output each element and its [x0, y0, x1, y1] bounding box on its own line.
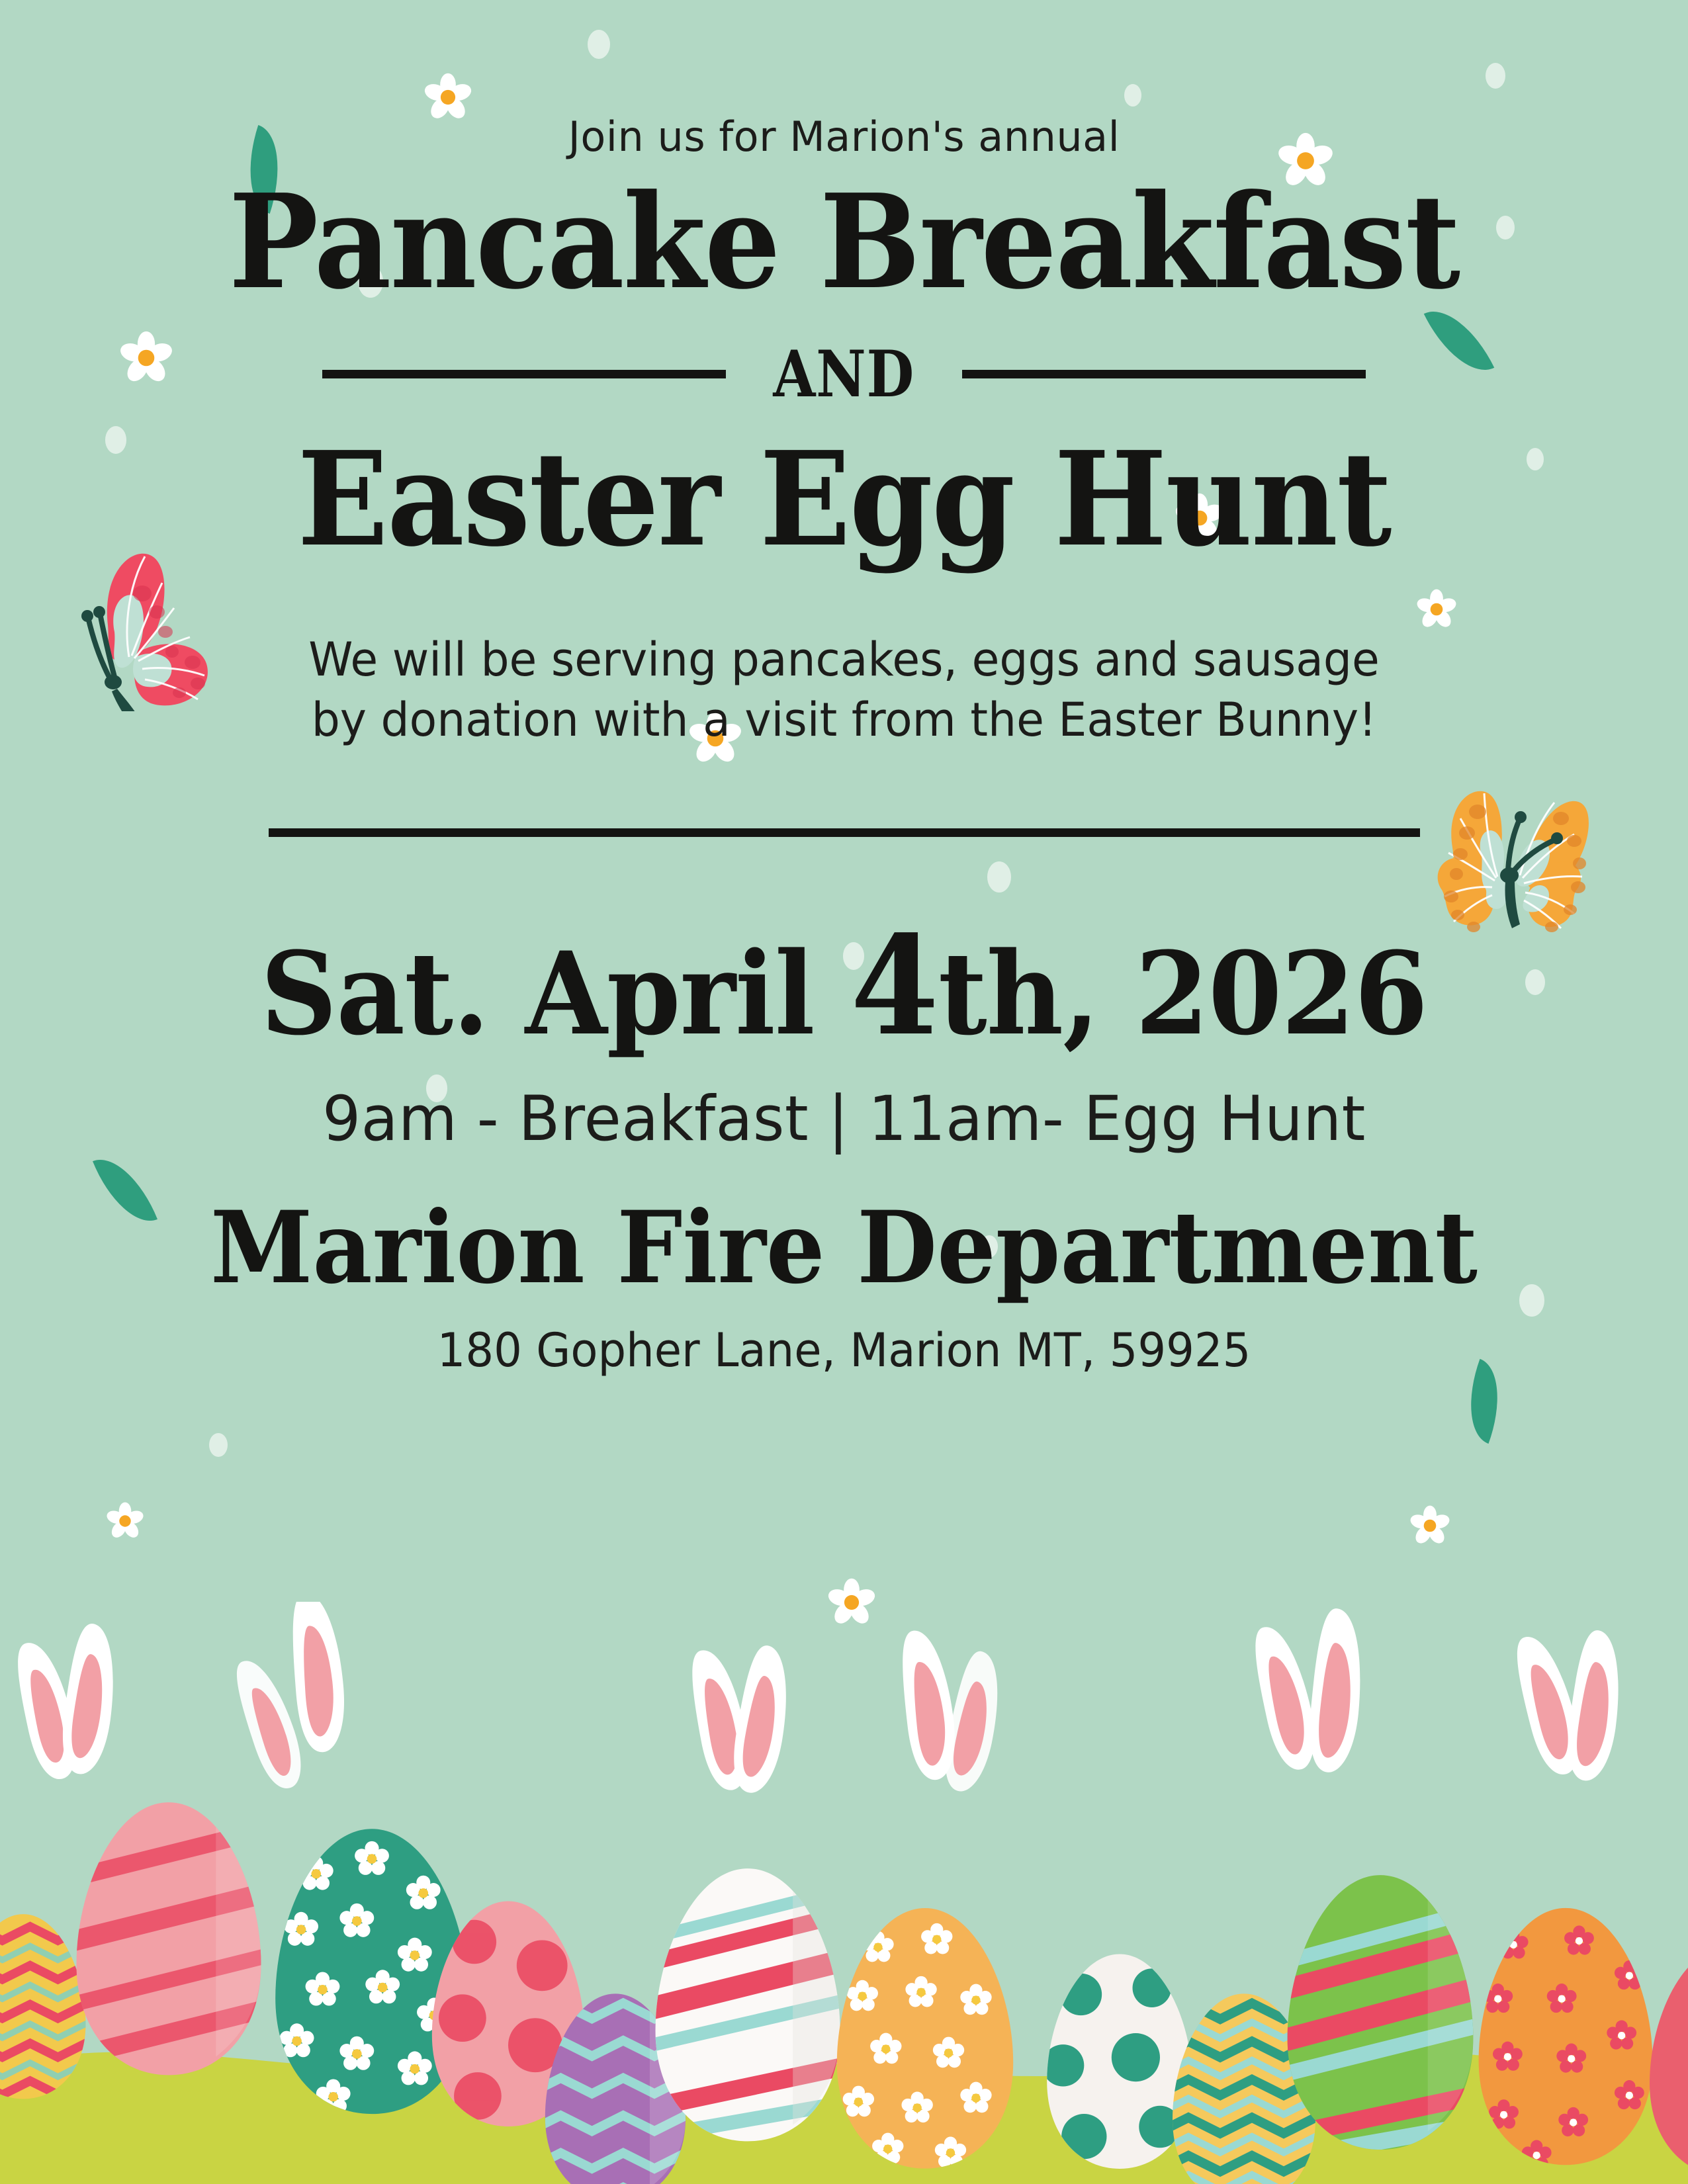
date-prefix: Sat. April	[261, 926, 851, 1061]
body-copy-line-1: We will be serving pancakes, eggs and sa…	[25, 630, 1662, 690]
body-copy: We will be serving pancakes, eggs and sa…	[25, 630, 1662, 750]
and-label: AND	[774, 337, 915, 412]
event-times: 9am - Breakfast | 11am- Egg Hunt	[25, 1083, 1662, 1155]
flower-icon	[1409, 1505, 1450, 1546]
easter-flyer: Join us for Marion's annual Pancake Brea…	[0, 0, 1688, 2184]
divider-rule-left	[322, 370, 726, 378]
butterfly-orange-icon	[1419, 777, 1598, 943]
body-copy-line-2: by donation with a visit from the Easter…	[25, 690, 1662, 750]
easter-egg-border	[0, 1602, 1688, 2184]
venue-name: Marion Fire Department	[59, 1190, 1628, 1306]
divider-rule-right	[962, 370, 1366, 378]
headline-easter-egg-hunt: Easter Egg Hunt	[67, 434, 1621, 566]
bunny-ears-group	[8, 1602, 1626, 1796]
event-date: Sat. April 4th, 2026	[59, 906, 1628, 1066]
butterfly-pink-icon	[63, 539, 242, 711]
date-day: 4	[850, 906, 938, 1066]
flower-icon	[106, 1502, 144, 1540]
confetti-dot	[209, 1433, 228, 1457]
date-suffix: th, 2026	[938, 926, 1427, 1061]
venue-address: 180 Gopher Lane, Marion MT, 59925	[34, 1323, 1654, 1377]
kicker-text: Join us for Marion's annual	[0, 112, 1688, 161]
flyer-content: Join us for Marion's annual Pancake Brea…	[0, 0, 1688, 1377]
headline-pancake-breakfast: Pancake Breakfast	[67, 177, 1621, 309]
section-divider-rule	[269, 828, 1420, 837]
and-divider-row: AND	[0, 337, 1688, 412]
